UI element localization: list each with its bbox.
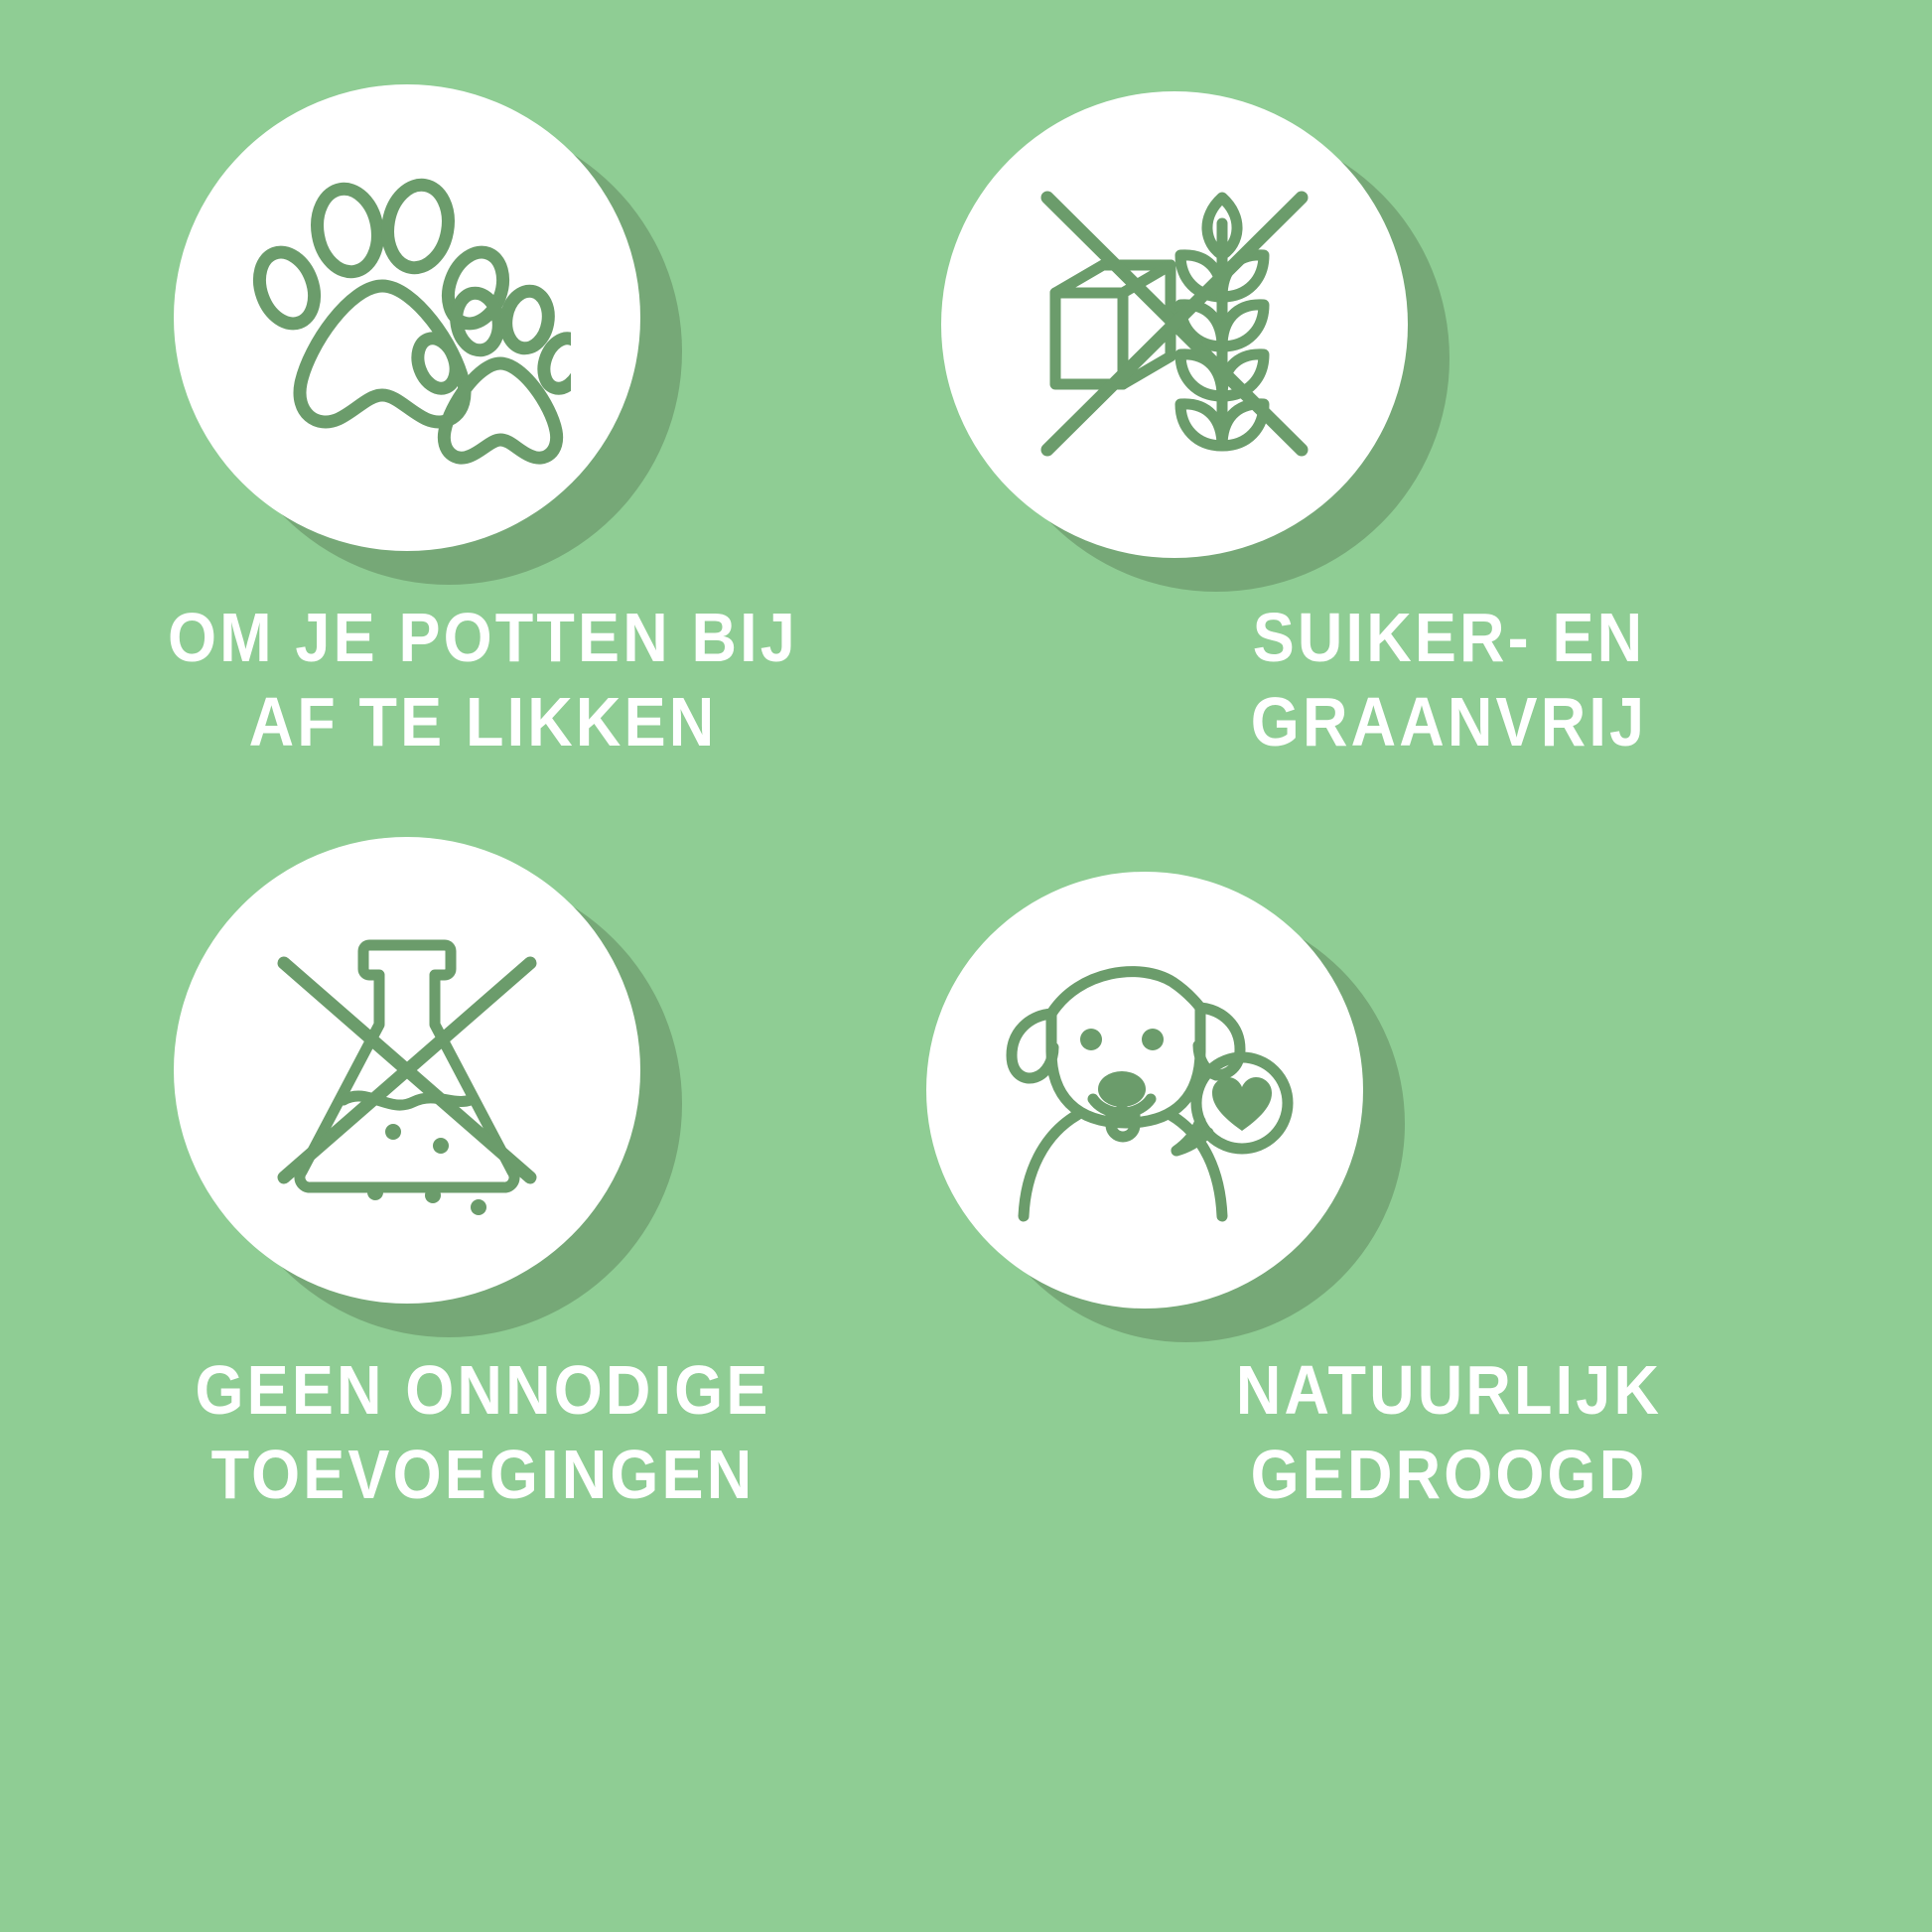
happy-dog-heart-icon (926, 872, 1363, 1309)
icon-badge-sugar-grain-free (941, 91, 1408, 558)
no-chemical-flask-icon (174, 837, 640, 1304)
feature-cell-naturally-dried: NATUURLIJK GEDROOGD (966, 966, 1932, 1932)
icon-badge-paws (174, 84, 640, 551)
icon-badge-naturally-dried (926, 872, 1363, 1309)
caption-line: NATUURLIJK (1015, 1348, 1884, 1433)
feature-caption-naturally-dried: NATUURLIJK GEDROOGD (1015, 1348, 1884, 1518)
caption-line: GEEN ONNODIGE (49, 1348, 918, 1433)
caption-line: TOEVOEGINGEN (49, 1433, 918, 1517)
feature-grid: OM JE POTTEN BIJ AF TE LIKKEN (0, 0, 1932, 1932)
feature-caption-no-additives: GEEN ONNODIGE TOEVOEGINGEN (49, 1348, 918, 1518)
caption-line: SUIKER- EN (1015, 596, 1884, 680)
paw-prints-icon (174, 84, 640, 551)
caption-line: AF TE LIKKEN (49, 680, 918, 764)
icon-badge-no-additives (174, 837, 640, 1304)
caption-line: OM JE POTTEN BIJ (49, 596, 918, 680)
feature-cell-paws: OM JE POTTEN BIJ AF TE LIKKEN (0, 0, 966, 966)
caption-line: GEDROOGD (1015, 1433, 1884, 1517)
feature-caption-sugar-grain-free: SUIKER- EN GRAANVRIJ (1015, 596, 1884, 765)
no-sugar-no-grain-icon (941, 91, 1408, 558)
feature-cell-no-additives: GEEN ONNODIGE TOEVOEGINGEN (0, 966, 966, 1932)
feature-caption-paws: OM JE POTTEN BIJ AF TE LIKKEN (49, 596, 918, 765)
caption-line: GRAANVRIJ (1015, 680, 1884, 764)
feature-cell-sugar-grain-free: SUIKER- EN GRAANVRIJ (966, 0, 1932, 966)
